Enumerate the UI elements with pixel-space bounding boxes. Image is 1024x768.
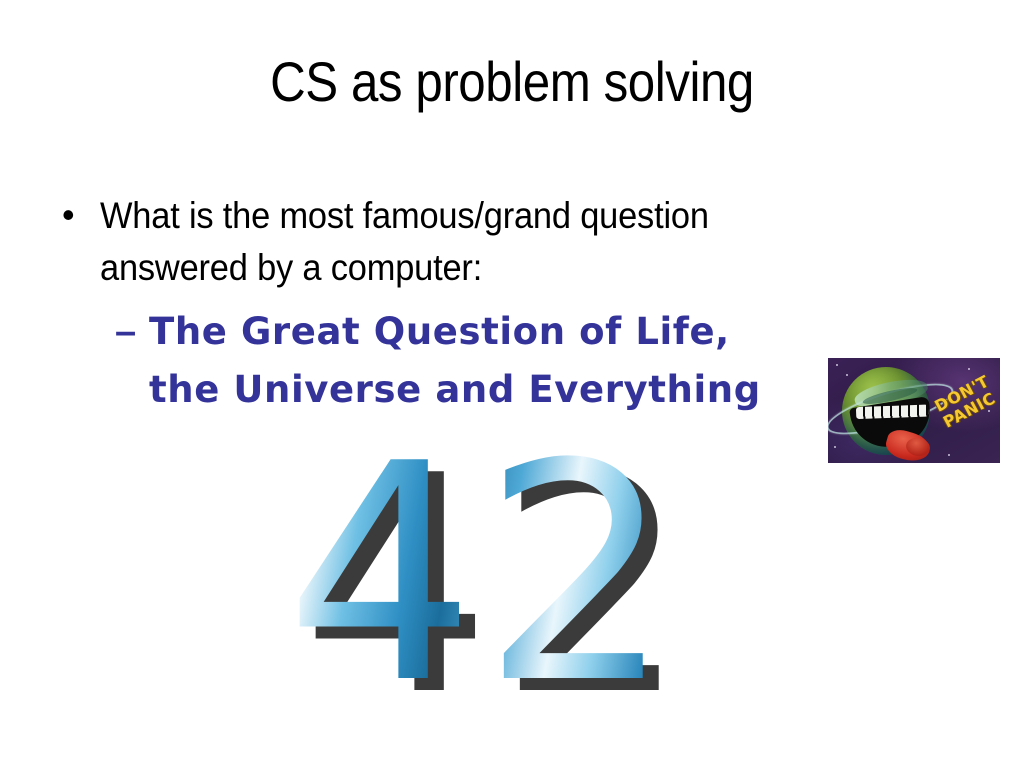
- star-icon: [968, 368, 970, 370]
- bullet-level-2-line-1: The Great Question of Life,: [149, 303, 875, 361]
- forty-two-value: 42: [285, 432, 679, 717]
- slide: CS as problem solving • What is the most…: [0, 0, 1024, 768]
- dont-panic-image: DON'T PANIC: [828, 358, 1000, 463]
- bullet-marker-dash-icon: –: [115, 303, 149, 361]
- planet-teeth-icon: [856, 405, 928, 420]
- bullet-level-1-text: What is the most famous/grand question a…: [100, 190, 805, 294]
- forty-two-graphic: 42 42: [285, 432, 625, 717]
- page-title: CS as problem solving: [61, 52, 962, 112]
- bullet-level-1: • What is the most famous/grand question…: [58, 190, 858, 294]
- dont-panic-caption: DON'T PANIC: [932, 372, 1000, 431]
- bullet-marker-dot-icon: •: [58, 190, 100, 240]
- star-icon: [846, 374, 848, 376]
- star-icon: [836, 364, 838, 366]
- star-icon: [834, 446, 836, 448]
- star-icon: [948, 454, 950, 456]
